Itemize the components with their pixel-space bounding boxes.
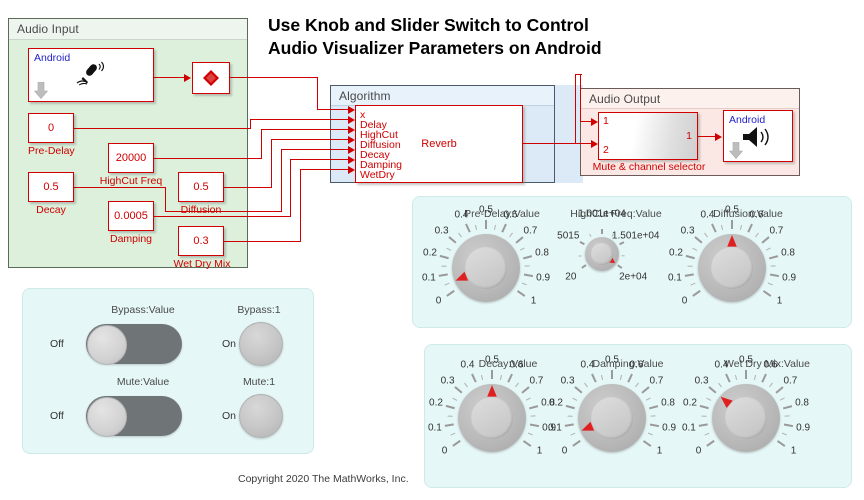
knob-pointer [546,208,686,318]
knob-tick-label: 20 [565,271,576,282]
wire-sel1-down [580,74,581,122]
arrow-selector-in1 [591,118,598,126]
arrow-port-decay [348,146,355,154]
constant-block-wet-dry-mix[interactable]: 0.3 [178,226,224,256]
wire-sel2-in [549,143,594,144]
knob-tick-label: 0.3 [681,225,695,236]
knob-tick-label: 2e+04 [619,271,647,282]
wire-decay-h3 [281,149,351,150]
knob-tick-label: 0.2 [669,247,683,258]
knob-tick-label: 0 [442,446,448,457]
constant-block-pre-delay[interactable]: 0 [28,113,74,143]
knob-tick-label: 0 [696,446,702,457]
knob-inner-disc[interactable] [591,243,612,264]
knob-tick-label: 0.8 [781,247,795,258]
scope-viewer-block[interactable] [192,62,230,94]
knob-tick-label: 0.7 [523,225,537,236]
download-arrow-icon-output [729,142,743,159]
audio-input-panel-title: Audio Input [17,22,79,36]
knob-tick-label: 0.4 [715,360,729,371]
knob-tick-label: 0.2 [683,397,697,408]
knob-tick-label: 0.4 [455,210,469,221]
knob-tick-label: 0.3 [561,375,575,386]
page-title-line1: Use Knob and Slider Switch to Control [268,14,688,37]
lamp-title-mute: Mute:1 [222,376,296,388]
knob-tick-label: 0.5 [479,205,493,216]
constant-label-wet-dry-mix: Wet Dry Mix [168,258,236,270]
constant-label-damping: Damping [100,233,162,245]
switch-off-label-mute: Off [50,410,64,422]
knob-tick-label: 0.5 [485,355,499,366]
android-tag-input: Android [34,52,70,64]
constant-label-highcut-freq: HighCut Freq [96,175,166,187]
speaker-icon [741,125,775,149]
slider-switch-mute[interactable]: Mute:Value Off On [50,376,236,436]
arrow-sink-in [715,133,722,141]
knob-tick-label: 1.501e+04 [612,230,660,241]
wire-wetdry-h1 [224,241,301,242]
reverb-block[interactable]: Reverb x Delay HighCut Diffusion Decay D… [355,105,523,183]
lamp-indicator-mute [239,394,283,438]
knob-tick-label: 0.2 [423,247,437,258]
constant-value-decay: 0.5 [29,181,73,193]
arrow-port-x [348,106,355,114]
knob-damping[interactable]: Damping:Value 00.10.20.30.40.50.60.70.80… [558,358,698,476]
wire-predelay-h2 [250,119,351,120]
knob-tick-label: 1 [537,446,543,457]
wire-decay-h2 [165,211,282,212]
wire-diffusion-v [271,139,272,188]
knob-tick-label: 0.1 [428,423,442,434]
knob-tick-label: 0.8 [661,397,675,408]
knob-tick-label: 0.4 [581,360,595,371]
constant-label-diffusion: Diffusion [170,204,232,216]
constant-value-diffusion: 0.5 [179,181,223,193]
wire-decay-v1 [165,187,166,212]
wire-diffusion-h1 [224,187,272,188]
knob-tick-label: 5015 [557,230,579,241]
arrow-port-delay [348,116,355,124]
knob-tick-label: 0.7 [769,225,783,236]
wire-predelay-h1 [74,128,251,129]
download-arrow-icon [34,82,48,99]
knob-tick-label: 0.7 [783,375,797,386]
selector-input-1-label: 1 [603,115,609,127]
knob-tick-label: 0.1 [682,423,696,434]
knob-tick-label: 0.3 [435,225,449,236]
arrow-selector-in2 [591,140,598,148]
constant-block-decay[interactable]: 0.5 [28,172,74,202]
knob-face-diffusion[interactable]: 00.10.20.30.40.50.60.70.80.91 [678,208,818,318]
knob-diffusion[interactable]: Diffusion:Value 00.10.20.30.40.50.60.70.… [678,208,818,318]
constant-value-wet-dry-mix: 0.3 [179,235,223,247]
lamp-bypass: Bypass:1 [222,304,296,364]
constant-block-highcut-freq[interactable]: 20000 [108,143,154,173]
arrow-port-damping [348,156,355,164]
knob-tick-label: 0.4 [461,360,475,371]
knob-tick-label: 0.7 [529,375,543,386]
knob-face-decay[interactable]: 00.10.20.30.40.50.60.70.80.91 [438,358,578,476]
android-audio-playback-block[interactable]: Android [723,110,793,162]
page-title: Use Knob and Slider Switch to Control Au… [268,14,688,60]
knob-tick-label: 0.2 [549,397,563,408]
audio-output-panel-title: Audio Output [589,92,660,106]
wire-to-port-x [317,109,351,110]
knob-tick-label: 1 [657,446,663,457]
wire-damping-h2 [290,159,351,160]
scope-diamond-icon [202,69,220,87]
knob-tick-label: 0.3 [441,375,455,386]
mute-channel-selector-label: Mute & channel selector [588,161,710,173]
wire-damping-h1 [154,216,291,217]
wire-wetdry-v [300,169,301,242]
lamp-indicator-bypass [239,322,283,366]
selector-input-2-label: 2 [603,144,609,156]
constant-label-decay: Decay [28,204,74,216]
wire-decay-v2 [281,149,282,212]
knob-tick-label: 1 [791,446,797,457]
knob-tick-label: 0.2 [429,397,443,408]
wire-highcut-h1 [154,158,262,159]
copyright-text: Copyright 2020 The MathWorks, Inc. [238,473,409,485]
wire-decay-h1 [74,187,166,188]
knob-face-highcut-freq[interactable]: 2050151.001e+041.501e+042e+04 [546,208,686,318]
constant-label-pre-delay: Pre-Delay [28,145,74,157]
knob-wet-dry-mix[interactable]: Wet Dry Mix:Value 00.10.20.30.40.50.60.7… [692,358,842,476]
switch-title-mute: Mute:Value [50,376,236,388]
wire-predelay-v [250,119,251,129]
knob-tick-label: 0.3 [695,375,709,386]
wire-scope-down [317,77,318,110]
knob-tick-label: 0.1 [548,423,562,434]
android-audio-capture-block[interactable]: Android [28,48,154,102]
constant-value-damping: 0.0005 [109,210,153,222]
knob-tick-label: 0.5 [605,355,619,366]
switch-thumb-mute[interactable] [87,397,127,437]
wire-damping-v [290,159,291,217]
knob-tick-label: 0.9 [796,423,810,434]
knob-tick-label: 0 [562,446,568,457]
knob-tick-label: 0.1 [668,273,682,284]
algorithm-panel-title: Algorithm [339,89,391,103]
wire-scope-right [230,77,318,78]
lamp-mute: Mute:1 [222,376,296,436]
arrow-port-highcut [348,126,355,134]
knob-tick-label: 1 [777,296,783,307]
switch-title-bypass: Bypass:Value [50,304,236,316]
constant-value-highcut-freq: 20000 [109,152,153,164]
wire-highcut-h2 [261,129,351,130]
knob-tick-label: 0 [436,296,442,307]
knob-tick-label: 0.1 [422,273,436,284]
knob-tick-label: 0.9 [782,273,796,284]
switch-thumb-bypass[interactable] [87,325,127,365]
knob-tick-label: 0.7 [649,375,663,386]
wire-diffusion-h2 [271,139,351,140]
wire-wetdry-h2 [300,169,351,170]
constant-block-diffusion[interactable]: 0.5 [178,172,224,202]
knob-tick-label: 0.6 [504,210,518,221]
selector-output-1-label: 1 [686,130,692,142]
arrow-port-diffusion [348,136,355,144]
knob-tick-label: 0.6 [750,210,764,221]
knob-face-wet-dry-mix[interactable]: 00.10.20.30.40.50.60.70.80.91 [692,358,842,476]
knob-tick-label: 0.8 [795,397,809,408]
constant-block-damping[interactable]: 0.0005 [108,201,154,231]
switch-off-label-bypass: Off [50,338,64,350]
knob-tick-label: 0.6 [630,360,644,371]
knob-tick-label: 0.4 [701,210,715,221]
knob-tick-label: 0.6 [510,360,524,371]
microphone-icon [71,61,111,87]
knob-tick-label: 0.9 [662,423,676,434]
reverb-port-wetdry: WetDry [360,170,395,181]
knob-decay[interactable]: Decay:Value 00.10.20.30.40.50.60.70.80.9… [438,358,578,476]
page-title-line2: Audio Visualizer Parameters on Android [268,37,688,60]
knob-tick-label: 0 [682,296,688,307]
knob-tick-label: 1.001e+04 [578,209,626,220]
arrow-scope-in [184,74,191,82]
wire-highcut-v [261,129,262,159]
mute-channel-selector-block[interactable]: 1 2 1 [598,112,698,160]
arrow-port-wetdry [348,166,355,174]
knob-tick-label: 0.5 [725,205,739,216]
wire-src-to-scope [154,77,185,78]
wire-reverb-up [575,74,576,144]
knob-tick-label: 0.6 [764,360,778,371]
knob-tick-label: 0.5 [739,355,753,366]
constant-value-pre-delay: 0 [29,122,73,134]
slider-switch-bypass[interactable]: Bypass:Value Off On [50,304,236,364]
reverb-block-label: Reverb [421,138,456,150]
knob-tick-label: 1 [531,296,537,307]
knob-highcut-freq[interactable]: HighCut Freq:Value 2050151.001e+041.501e… [546,208,686,318]
knob-face-damping[interactable]: 00.10.20.30.40.50.60.70.80.91 [558,358,698,476]
lamp-title-bypass: Bypass:1 [222,304,296,316]
